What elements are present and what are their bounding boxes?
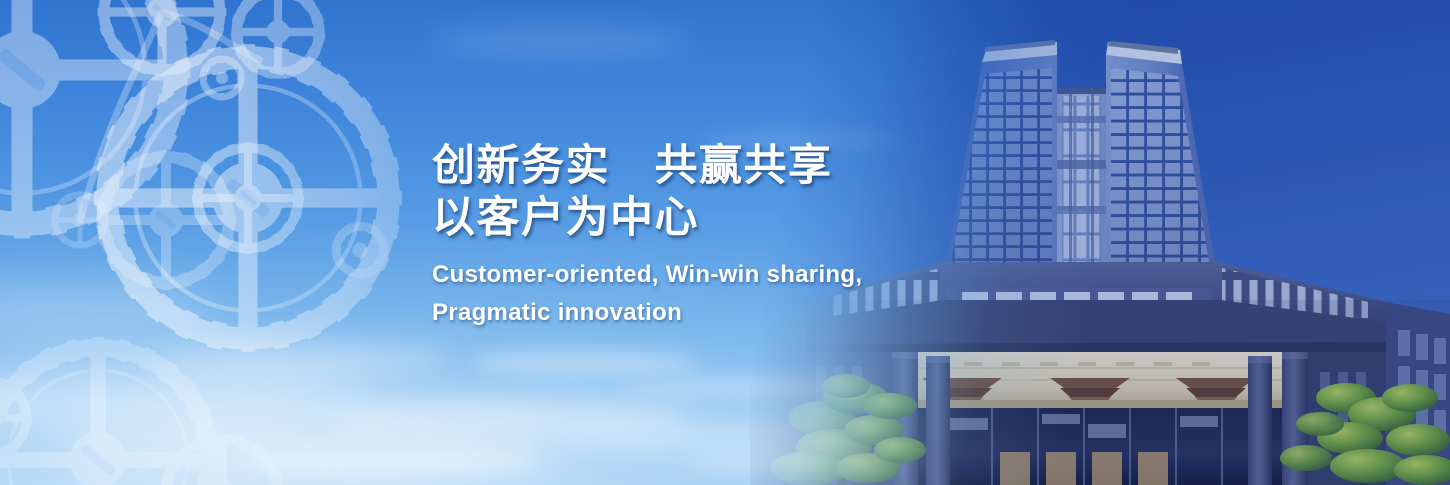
headline-cn-line2: 以客户为中心: [432, 192, 992, 244]
tagline-en-line1: Customer-oriented, Win-win sharing,: [432, 256, 992, 294]
tagline-en-line2: Pragmatic innovation: [432, 294, 992, 332]
headline-cn-line1: 创新务实 共赢共享: [432, 140, 992, 192]
banner-copy: 创新务实 共赢共享 以客户为中心 Customer-oriented, Win-…: [432, 140, 992, 332]
company-culture-banner: 创新务实 共赢共享 以客户为中心 Customer-oriented, Win-…: [0, 0, 1450, 485]
